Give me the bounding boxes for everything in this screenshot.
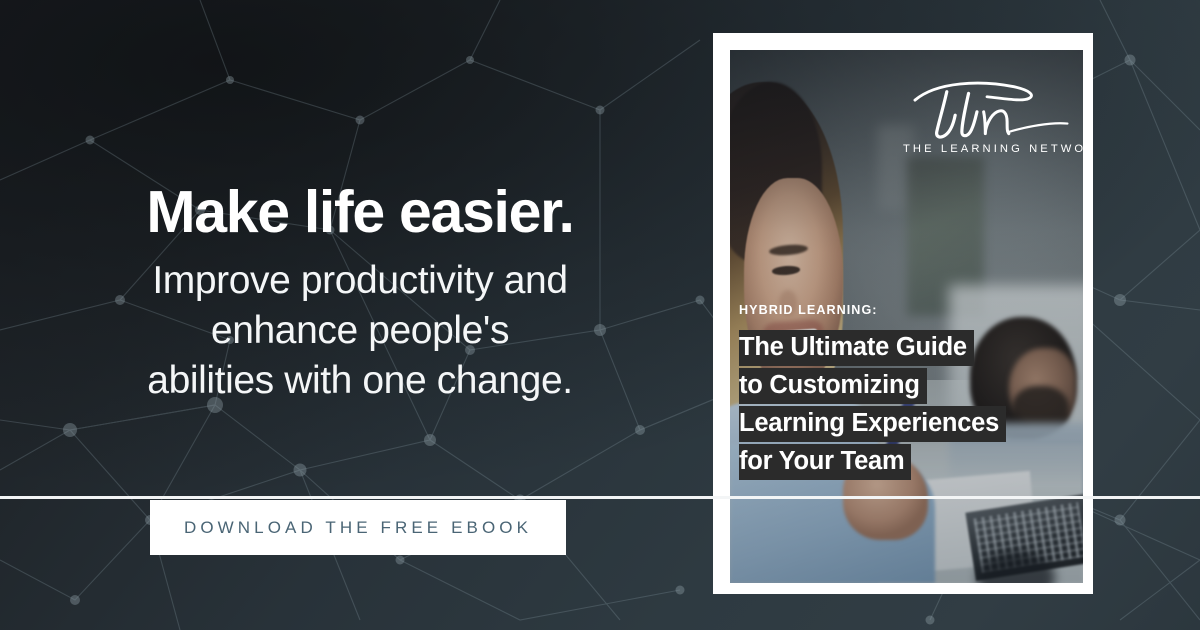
subhead-line-3: abilities with one change. [8,356,712,406]
tln-logo: THE LEARNING NETWORK [903,80,1071,155]
ebook-title-line-2: to Customizing [739,368,927,404]
tln-wordmark: THE LEARNING NETWORK [903,143,1071,155]
download-ebook-button-label: DOWNLOAD THE FREE EBOOK [184,518,532,538]
download-ebook-button[interactable]: DOWNLOAD THE FREE EBOOK [150,500,566,555]
hero-subhead: Improve productivity and enhance people'… [0,256,712,406]
ebook-cover-frame[interactable]: THE LEARNING NETWORK HYBRID LEARNING: Th… [713,33,1093,594]
ebook-eyebrow: HYBRID LEARNING: [739,303,878,317]
page-title: Make life easier. [0,183,712,242]
ebook-title-line-1: The Ultimate Guide [739,330,974,366]
tln-monogram-icon [903,80,1071,142]
ebook-title: The Ultimate Guide to Customizing Learni… [739,330,1079,482]
subhead-line-2: enhance people's [8,306,712,356]
subhead-line-1: Improve productivity and [8,256,712,306]
ebook-title-line-4: for Your Team [739,444,911,480]
ebook-title-line-3: Learning Experiences [739,406,1006,442]
promo-banner: Make life easier. Improve productivity a… [0,0,1200,630]
ebook-cover: THE LEARNING NETWORK HYBRID LEARNING: Th… [730,50,1083,583]
horizontal-divider-overlay [0,496,1200,499]
